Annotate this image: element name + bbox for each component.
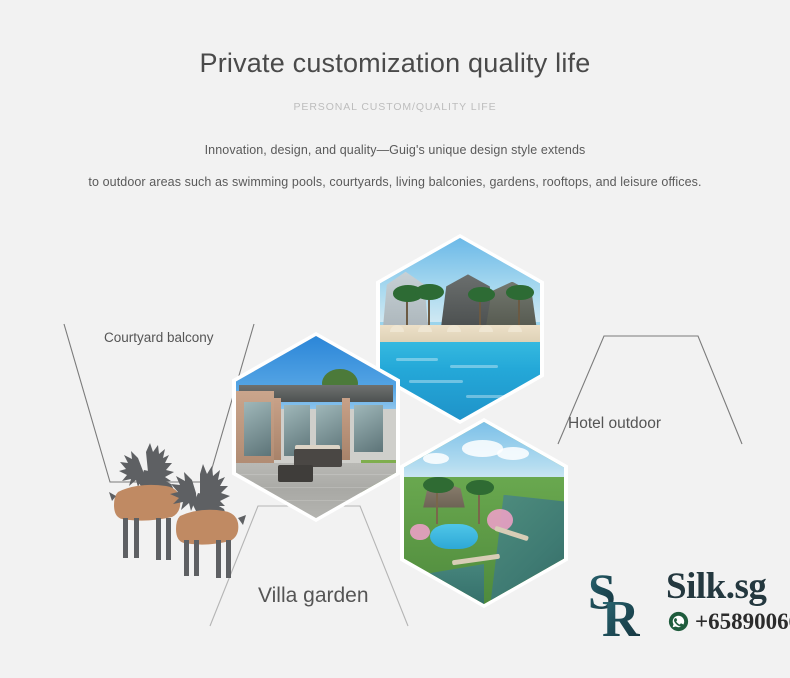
- hexagon-label-courtyard: Courtyard balcony: [104, 330, 214, 345]
- phone-row: +6589006631: [668, 610, 790, 633]
- brand-name: Silk.sg: [666, 568, 766, 605]
- description-line-1: Innovation, design, and quality—Guig's u…: [0, 113, 790, 157]
- watermark-logo: S R Silk.sg +6589006631: [588, 566, 788, 646]
- page-title: Private customization quality life: [0, 0, 790, 79]
- resort-hotel-photo: [380, 238, 540, 420]
- description-line-2: to outdoor areas such as swimming pools,…: [0, 157, 790, 189]
- deer-sculpture-right: [166, 460, 286, 580]
- hexagon-photo-villa[interactable]: [404, 422, 564, 604]
- page-subtitle: PERSONAL CUSTOM/QUALITY LIFE: [0, 79, 790, 113]
- page-header: Private customization quality life PERSO…: [0, 0, 790, 189]
- hexagon-label-hotel: Hotel outdoor: [568, 415, 661, 433]
- sr-monogram-icon: S R: [588, 568, 666, 640]
- hexagon-label-villa: Villa garden: [258, 584, 369, 608]
- hexagon-photo-hotel-frame: [376, 234, 544, 424]
- whatsapp-icon: [668, 611, 689, 632]
- hexagon-photo-villa-frame: [400, 418, 568, 608]
- deer-sculptures: [104, 436, 254, 566]
- hexagon-photo-hotel[interactable]: [380, 238, 540, 420]
- svg-text:R: R: [602, 591, 641, 640]
- phone-number: +6589006631: [695, 610, 790, 633]
- villa-garden-photo: [404, 422, 564, 604]
